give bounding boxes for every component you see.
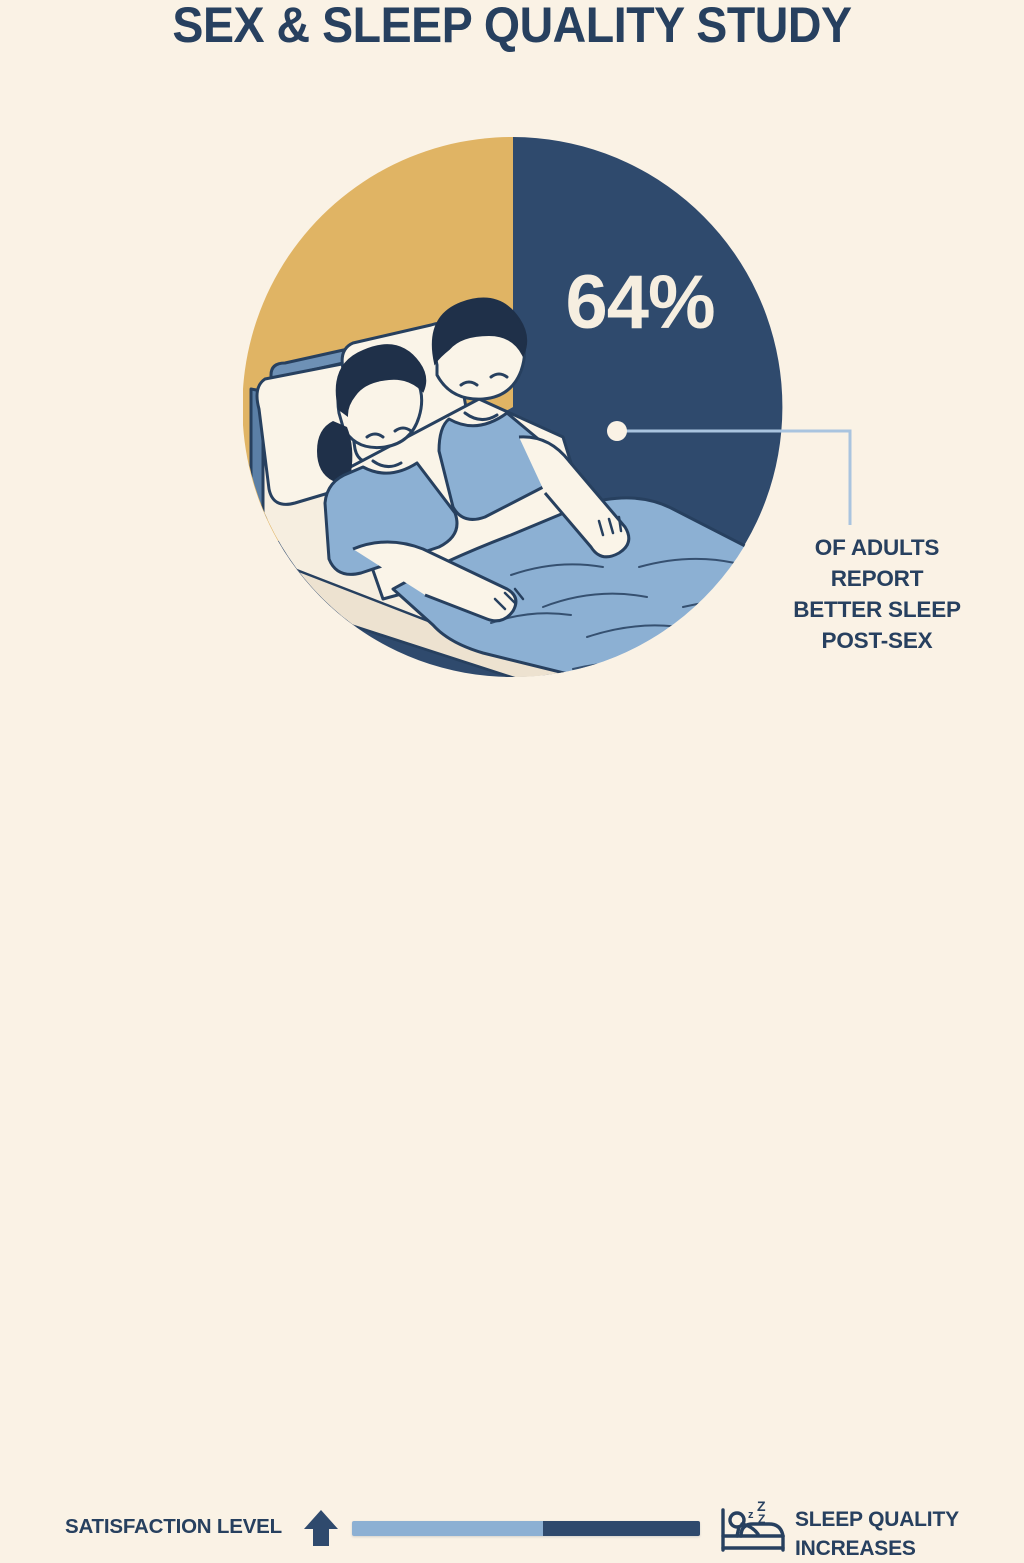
page-title: SEX & SLEEP QUALITY STUDY: [36, 0, 988, 54]
sleep-quality-label: SLEEP QUALITY INCREASES: [795, 1505, 1020, 1563]
svg-text:Z: Z: [758, 1512, 765, 1526]
satisfaction-progress-bar: [352, 1521, 700, 1536]
callout-leader-line: [600, 405, 880, 535]
arrow-up-icon: [300, 1507, 342, 1549]
progress-segment-light: [352, 1521, 543, 1536]
sleep-quality-line-2: INCREASES: [795, 1534, 1020, 1563]
infographic-canvas: SEX & SLEEP QUALITY STUDY: [0, 0, 1024, 819]
callout-line-3: BETTER SLEEP: [757, 594, 997, 625]
person-sleeping-in-bed-icon: z Z Z: [717, 1496, 789, 1554]
satisfaction-level-label: SATISFACTION LEVEL: [65, 1515, 282, 1539]
svg-text:z: z: [748, 1509, 754, 1521]
sleep-quality-line-1: SLEEP QUALITY: [795, 1505, 1020, 1534]
callout-line-2: REPORT: [757, 563, 997, 594]
callout-line-1: OF ADULTS: [757, 532, 997, 563]
progress-segment-dark: [543, 1521, 700, 1536]
footer-bar: SATISFACTION LEVEL: [0, 744, 1024, 819]
callout-line-4: POST-SEX: [757, 625, 997, 656]
pie-center-percentage: 64%: [540, 258, 740, 348]
callout-text: OF ADULTS REPORT BETTER SLEEP POST-SEX: [757, 532, 997, 656]
